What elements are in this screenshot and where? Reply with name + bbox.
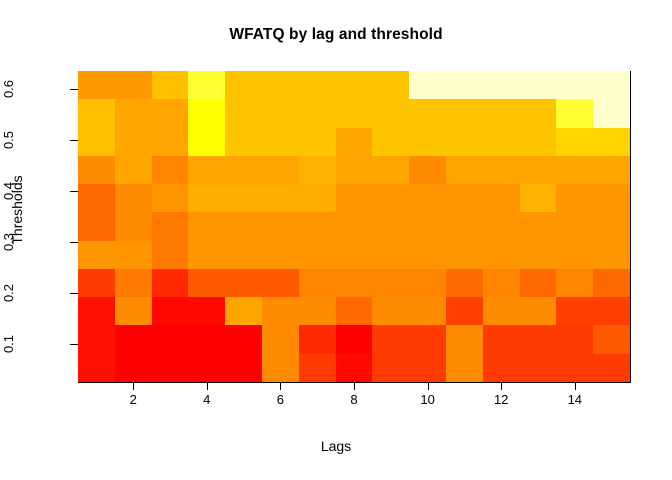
y-axis-title: Thresholds	[9, 170, 25, 250]
heatmap-cell	[446, 212, 483, 241]
y-tick-label-holder: 0.5	[0, 133, 42, 147]
heatmap-cell	[188, 71, 225, 100]
heatmap-cell	[115, 269, 152, 298]
heatmap-cell	[409, 325, 446, 354]
y-tick-mark	[70, 140, 78, 141]
heatmap-cell	[225, 297, 262, 326]
heatmap-cell	[188, 269, 225, 298]
heatmap-cell	[299, 99, 336, 128]
heatmap-cell	[152, 269, 189, 298]
heatmap-cell	[225, 212, 262, 241]
heatmap-cell	[152, 241, 189, 270]
heatmap-plot-root: WFATQ by lag and threshold 2468101214 0.…	[0, 0, 672, 480]
heatmap-cell	[299, 212, 336, 241]
x-tick-mark	[354, 383, 355, 390]
heatmap-cell	[520, 156, 557, 185]
heatmap-cell	[188, 184, 225, 213]
heatmap-cell	[520, 269, 557, 298]
heatmap-cell	[225, 71, 262, 100]
heatmap-cell	[188, 241, 225, 270]
heatmap-cell	[225, 128, 262, 157]
heatmap-cell	[188, 99, 225, 128]
heatmap-cell	[115, 184, 152, 213]
x-tick-label: 10	[408, 392, 448, 407]
heatmap-cell	[336, 269, 373, 298]
heatmap-cell	[152, 71, 189, 100]
heatmap-cell	[78, 156, 115, 185]
heatmap-cell	[483, 269, 520, 298]
heatmap-cell	[372, 241, 409, 270]
heatmap-cell	[262, 99, 299, 128]
heatmap-cell	[115, 297, 152, 326]
heatmap-cell	[115, 241, 152, 270]
heatmap-cell	[409, 297, 446, 326]
x-tick-mark	[428, 383, 429, 390]
heatmap-cell	[446, 156, 483, 185]
heatmap-cell	[446, 241, 483, 270]
heatmap-cell	[409, 269, 446, 298]
heatmap-cell	[593, 241, 630, 270]
x-tick-label: 6	[260, 392, 300, 407]
heatmap-cell	[520, 297, 557, 326]
heatmap-cell	[372, 156, 409, 185]
heatmap-cell	[409, 354, 446, 383]
heatmap-cell	[520, 212, 557, 241]
heatmap-cell	[483, 184, 520, 213]
heatmap-cell	[483, 99, 520, 128]
heatmap-cell	[593, 354, 630, 383]
heatmap-cell	[520, 241, 557, 270]
heatmap-cell	[336, 128, 373, 157]
heatmap-cell	[188, 212, 225, 241]
x-tick-label: 12	[481, 392, 521, 407]
heatmap-cell	[299, 156, 336, 185]
heatmap-cell	[593, 184, 630, 213]
heatmap-cell	[409, 212, 446, 241]
heatmap-cell	[409, 71, 446, 100]
heatmap-cell	[262, 184, 299, 213]
heatmap-cell	[593, 297, 630, 326]
heatmap-cell	[78, 354, 115, 383]
y-tick-mark	[70, 293, 78, 294]
y-tick-mark	[70, 89, 78, 90]
x-axis-title: Lags	[0, 438, 672, 454]
heatmap-cell	[262, 128, 299, 157]
heatmap-cell	[483, 241, 520, 270]
heatmap-cell	[556, 99, 593, 128]
heatmap-cell	[115, 99, 152, 128]
heatmap-cell	[299, 325, 336, 354]
heatmap-cell	[372, 325, 409, 354]
heatmap-cell	[372, 212, 409, 241]
heatmap-cell	[225, 156, 262, 185]
heatmap-cell	[299, 184, 336, 213]
heatmap-cell	[556, 184, 593, 213]
heatmap-cell	[152, 99, 189, 128]
heatmap-cell	[78, 212, 115, 241]
plot-right-border	[630, 71, 631, 383]
heatmap-cell	[336, 71, 373, 100]
heatmap-cell	[409, 156, 446, 185]
y-tick-mark	[70, 344, 78, 345]
page-title: WFATQ by lag and threshold	[0, 26, 672, 44]
heatmap-cell	[78, 269, 115, 298]
x-tick-mark	[280, 383, 281, 390]
heatmap-cell	[188, 325, 225, 354]
heatmap-cell	[446, 325, 483, 354]
heatmap-cell	[225, 269, 262, 298]
heatmap-cell	[556, 297, 593, 326]
heatmap-cell	[115, 354, 152, 383]
heatmap-cell	[446, 128, 483, 157]
y-tick-mark	[70, 242, 78, 243]
heatmap-cell	[409, 184, 446, 213]
heatmap-cell	[593, 128, 630, 157]
heatmap-cell	[409, 241, 446, 270]
x-tick-mark	[133, 383, 134, 390]
heatmap-cell	[152, 297, 189, 326]
heatmap-cell	[336, 156, 373, 185]
heatmap-cell	[520, 99, 557, 128]
heatmap-cell	[556, 71, 593, 100]
heatmap-cell	[336, 297, 373, 326]
heatmap-cell	[225, 184, 262, 213]
heatmap-cell	[336, 184, 373, 213]
y-tick-label-holder: 0.2	[0, 286, 42, 300]
heatmap-cell	[593, 269, 630, 298]
heatmap-cell	[152, 212, 189, 241]
heatmap-cell	[115, 156, 152, 185]
heatmap-cell	[483, 71, 520, 100]
heatmap-cell	[372, 297, 409, 326]
heatmap-cell	[483, 354, 520, 383]
heatmap-cell	[78, 241, 115, 270]
heatmap-cell	[78, 99, 115, 128]
heatmap-cell	[446, 99, 483, 128]
heatmap-cell	[556, 354, 593, 383]
heatmap-cell	[299, 241, 336, 270]
heatmap-cell	[483, 128, 520, 157]
heatmap-cell	[115, 71, 152, 100]
heatmap-cell	[225, 325, 262, 354]
heatmap-cell	[483, 297, 520, 326]
heatmap-cell	[336, 354, 373, 383]
heatmap-cell	[556, 156, 593, 185]
heatmap-cell	[520, 325, 557, 354]
heatmap-cell	[593, 325, 630, 354]
heatmap-cell	[483, 212, 520, 241]
heatmap-cell	[152, 156, 189, 185]
heatmap-cell	[409, 128, 446, 157]
heatmap-cell	[225, 354, 262, 383]
heatmap-cell	[372, 99, 409, 128]
heatmap-cell	[188, 354, 225, 383]
heatmap-cell	[262, 212, 299, 241]
heatmap-cell	[188, 297, 225, 326]
heatmap-cell	[262, 297, 299, 326]
heatmap-cell	[188, 156, 225, 185]
heatmap-cell	[299, 297, 336, 326]
heatmap-cell	[446, 269, 483, 298]
x-tick-label: 2	[113, 392, 153, 407]
heatmap-cell	[556, 241, 593, 270]
heatmap-cell	[446, 354, 483, 383]
x-tick-label: 14	[555, 392, 595, 407]
heatmap-cell	[262, 354, 299, 383]
heatmap-cell	[556, 325, 593, 354]
heatmap-cell	[336, 325, 373, 354]
y-tick-label-holder: 0.6	[0, 82, 42, 96]
heatmap-cell	[152, 184, 189, 213]
heatmap-cell	[262, 71, 299, 100]
heatmap-cell	[115, 128, 152, 157]
heatmap-cell	[556, 212, 593, 241]
heatmap-cell	[262, 156, 299, 185]
heatmap-cell	[78, 325, 115, 354]
heatmap-grid	[78, 71, 630, 382]
heatmap-cell	[446, 71, 483, 100]
x-tick-mark	[575, 383, 576, 390]
heatmap-cell	[299, 269, 336, 298]
plot-area	[78, 71, 630, 382]
heatmap-cell	[152, 128, 189, 157]
heatmap-cell	[520, 128, 557, 157]
x-tick-mark	[207, 383, 208, 390]
heatmap-cell	[225, 99, 262, 128]
heatmap-cell	[593, 71, 630, 100]
heatmap-cell	[593, 99, 630, 128]
heatmap-cell	[446, 297, 483, 326]
heatmap-cell	[520, 354, 557, 383]
heatmap-cell	[115, 325, 152, 354]
heatmap-cell	[372, 128, 409, 157]
heatmap-cell	[372, 269, 409, 298]
heatmap-cell	[336, 212, 373, 241]
heatmap-cell	[78, 297, 115, 326]
heatmap-cell	[446, 184, 483, 213]
heatmap-cell	[556, 269, 593, 298]
x-tick-label: 4	[187, 392, 227, 407]
heatmap-cell	[409, 99, 446, 128]
heatmap-cell	[262, 325, 299, 354]
heatmap-cell	[372, 71, 409, 100]
heatmap-cell	[336, 99, 373, 128]
heatmap-cell	[520, 184, 557, 213]
heatmap-cell	[336, 241, 373, 270]
heatmap-cell	[372, 354, 409, 383]
y-tick-mark	[70, 191, 78, 192]
heatmap-cell	[188, 128, 225, 157]
x-tick-mark	[501, 383, 502, 390]
y-tick-label: 0.6	[2, 56, 16, 122]
heatmap-cell	[225, 241, 262, 270]
heatmap-cell	[262, 269, 299, 298]
heatmap-cell	[262, 241, 299, 270]
heatmap-cell	[299, 128, 336, 157]
heatmap-cell	[299, 354, 336, 383]
heatmap-cell	[78, 71, 115, 100]
heatmap-cell	[593, 212, 630, 241]
heatmap-cell	[483, 325, 520, 354]
heatmap-cell	[593, 156, 630, 185]
heatmap-cell	[152, 325, 189, 354]
y-tick-label-holder: 0.1	[0, 337, 42, 351]
heatmap-cell	[78, 184, 115, 213]
heatmap-cell	[115, 212, 152, 241]
heatmap-cell	[372, 184, 409, 213]
heatmap-cell	[556, 128, 593, 157]
heatmap-cell	[78, 128, 115, 157]
x-tick-label: 8	[334, 392, 374, 407]
heatmap-cell	[299, 71, 336, 100]
heatmap-cell	[483, 156, 520, 185]
heatmap-cell	[152, 354, 189, 383]
heatmap-cell	[520, 71, 557, 100]
